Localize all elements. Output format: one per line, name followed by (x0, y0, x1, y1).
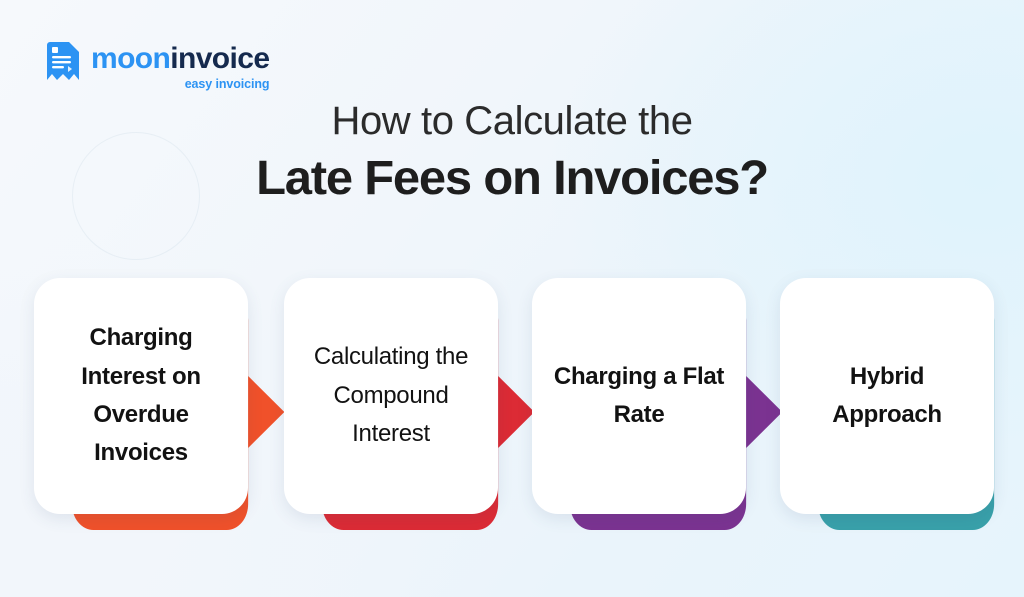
step-card-surface-3[interactable]: Charging a Flat Rate (532, 278, 746, 514)
step-label-2: Calculating the Compound Interest (300, 338, 482, 453)
step-card-1[interactable]: Charging Interest on Overdue Invoices (34, 278, 248, 514)
infographic-canvas: mooninvoice easy invoicing How to Calcul… (0, 0, 1024, 597)
step-card-surface-2[interactable]: Calculating the Compound Interest (284, 278, 498, 514)
invoice-document-icon (44, 41, 82, 81)
step-card-3[interactable]: Charging a Flat Rate (532, 278, 746, 514)
step-card-2[interactable]: Calculating the Compound Interest (284, 278, 498, 514)
step-card-4[interactable]: Hybrid Approach (780, 278, 994, 514)
page-title-line2: Late Fees on Invoices? (0, 151, 1024, 208)
brand-tagline: easy invoicing (91, 78, 269, 91)
steps-row: Charging Interest on Overdue InvoicesCal… (0, 278, 1024, 538)
step-label-3: Charging a Flat Rate (548, 358, 730, 435)
page-title-line1: How to Calculate the (0, 98, 1024, 145)
brand-name-moon: moon (91, 42, 170, 75)
brand-logo[interactable]: mooninvoice easy invoicing (44, 41, 269, 91)
step-card-surface-4[interactable]: Hybrid Approach (780, 278, 994, 514)
brand-name: mooninvoice (91, 44, 269, 74)
brand-name-invoice: invoice (170, 42, 269, 75)
step-label-1: Charging Interest on Overdue Invoices (50, 319, 232, 473)
step-label-4: Hybrid Approach (796, 358, 978, 435)
brand-wordmark: mooninvoice easy invoicing (91, 41, 269, 91)
page-title: How to Calculate the Late Fees on Invoic… (0, 98, 1024, 208)
step-card-surface-1[interactable]: Charging Interest on Overdue Invoices (34, 278, 248, 514)
